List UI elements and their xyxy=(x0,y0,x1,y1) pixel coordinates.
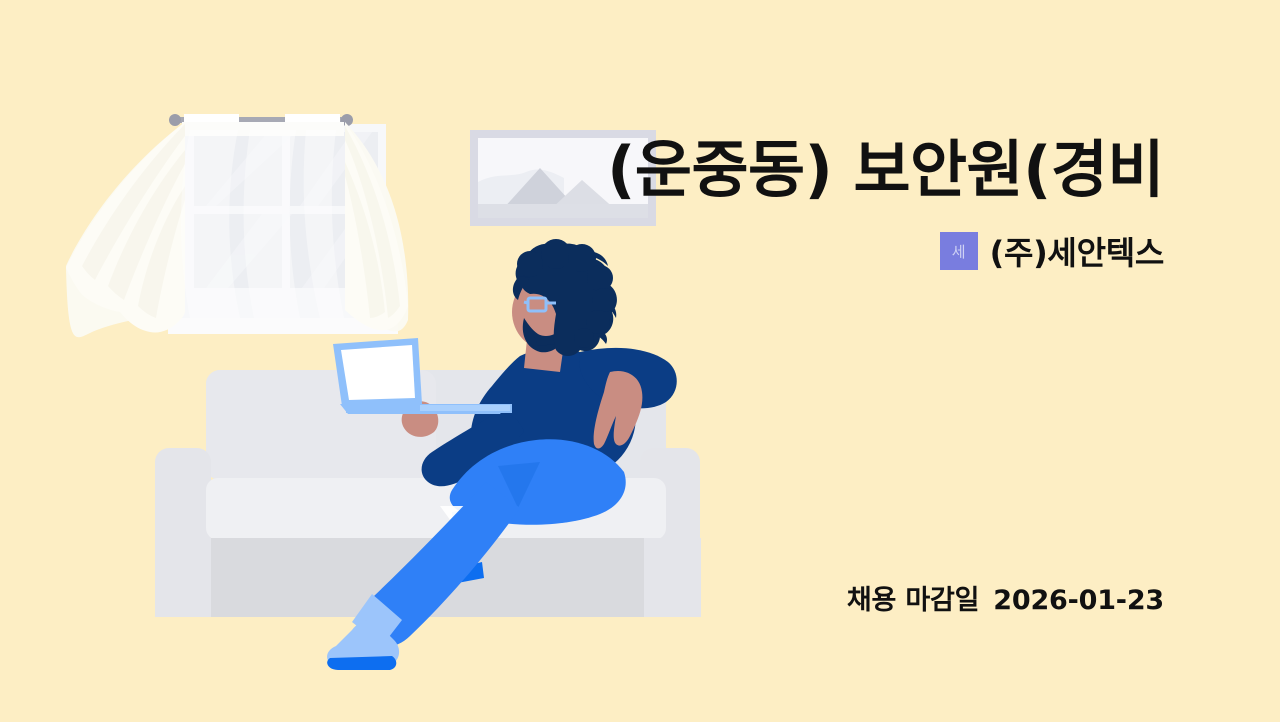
deadline-label: 채용 마감일 xyxy=(847,578,979,617)
laptop-base-highlight xyxy=(420,405,510,411)
company-row[interactable]: 세 (주)세안텍스 xyxy=(0,228,1164,274)
company-logo-badge: 세 xyxy=(940,232,978,270)
job-title-row: (운중동) 보안원(경비 xyxy=(0,134,1164,205)
laptop-screen xyxy=(341,345,415,400)
deadline-value: 2026-01-23 xyxy=(993,585,1164,616)
job-title: (운중동) 보안원(경비 xyxy=(607,134,1164,205)
curtain-rod-cap-left xyxy=(169,114,181,126)
front-shoe-sole xyxy=(327,656,396,670)
curtain-rings-left xyxy=(184,114,239,123)
deadline-row: 채용 마감일 2026-01-23 xyxy=(0,578,1164,617)
job-posting-card: (운중동) 보안원(경비 세 (주)세안텍스 채용 마감일 2026-01-23 xyxy=(0,0,1280,722)
company-name: (주)세안텍스 xyxy=(990,228,1164,274)
curtain-rings-right xyxy=(285,114,340,123)
